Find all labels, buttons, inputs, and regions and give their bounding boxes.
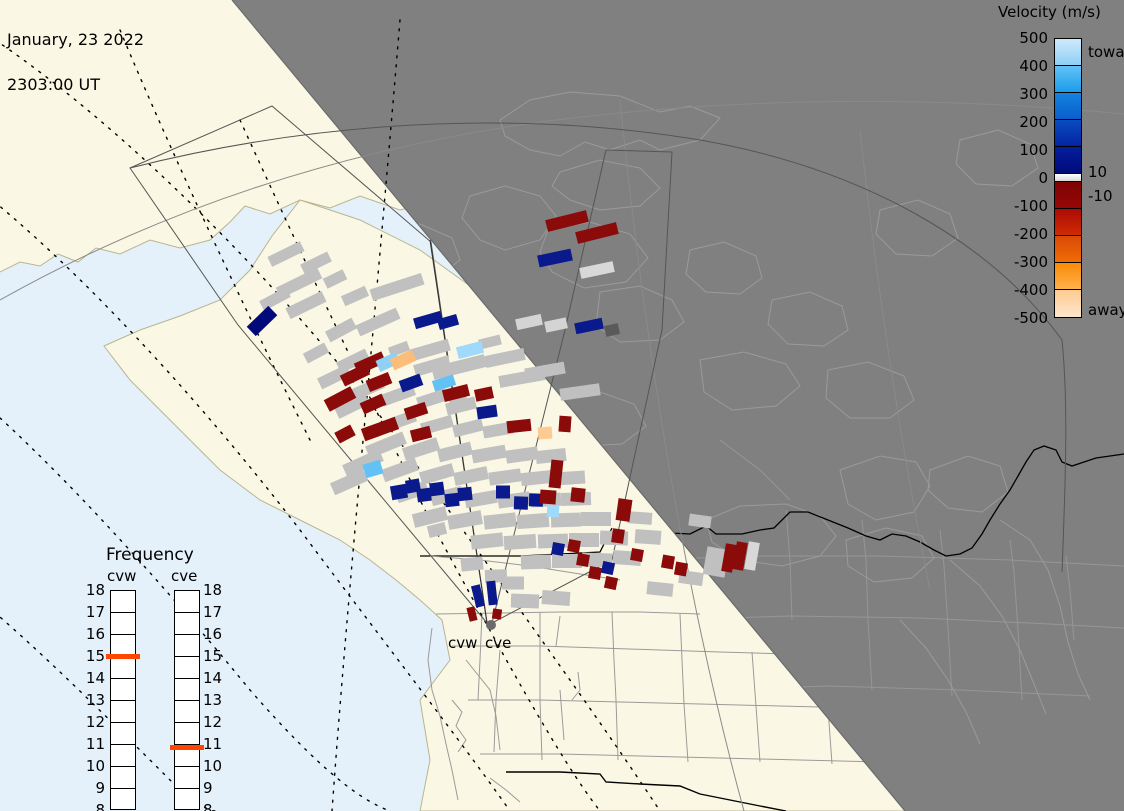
ground-scatter-cell	[521, 554, 551, 569]
ground-scatter-cell	[511, 594, 539, 609]
frequency-column-header-cvw: cvw	[107, 567, 136, 585]
frequency-label-16: 16	[85, 625, 105, 643]
radar-site-marker[interactable]	[486, 620, 496, 630]
frequency-label-11: 11	[85, 735, 105, 753]
frequency-cell	[111, 789, 135, 811]
ground-scatter-cell	[646, 581, 673, 597]
frequency-label-13: 13	[203, 691, 222, 709]
velocity-label-toward: toward	[1088, 43, 1124, 61]
velocity-cell	[416, 488, 432, 503]
velocity-cell	[444, 493, 459, 507]
velocity-cell	[538, 427, 553, 440]
velocity-tick-200: 200	[1019, 113, 1048, 131]
frequency-label-12: 12	[203, 713, 222, 731]
velocity-band-50	[1055, 147, 1081, 174]
frequency-legend-title: Frequency	[106, 545, 194, 565]
frequency-cell	[175, 789, 199, 811]
frequency-label-8: 8	[203, 801, 213, 811]
velocity-band-0	[1055, 174, 1081, 182]
frequency-label-14: 14	[85, 669, 105, 687]
frequency-legend: Frequency cvw cve 1818171716161515141413…	[85, 545, 245, 785]
timestamp-date: January, 23 2022	[7, 32, 144, 47]
frequency-label-17: 17	[85, 603, 105, 621]
velocity-legend: Velocity (m/s) 5004003002001000-100-200-…	[990, 0, 1124, 340]
velocity-cell	[457, 487, 472, 501]
ground-scatter-cell	[504, 534, 537, 550]
velocity-tick--500: -500	[1014, 309, 1048, 327]
velocity-band--150	[1055, 209, 1081, 236]
frequency-label-15: 15	[203, 647, 222, 665]
velocity-cell	[551, 542, 565, 556]
velocity-legend-title: Velocity (m/s)	[998, 3, 1101, 21]
velocity-cell	[492, 608, 502, 619]
ground-scatter-cell	[628, 511, 653, 525]
velocity-cell	[540, 489, 557, 504]
frequency-scale-cve[interactable]	[174, 590, 200, 810]
velocity-tick--300: -300	[1014, 253, 1048, 271]
frequency-cell	[111, 723, 135, 745]
frequency-label-8: 8	[85, 801, 105, 811]
frequency-label-18: 18	[203, 581, 222, 599]
velocity-cell	[429, 482, 445, 497]
velocity-cell	[611, 528, 625, 544]
frequency-label-9: 9	[85, 779, 105, 797]
velocity-cell	[604, 576, 618, 590]
velocity-cell	[674, 562, 688, 577]
velocity-band--350	[1055, 263, 1081, 290]
velocity-tick-100: 100	[1019, 141, 1048, 159]
frequency-label-16: 16	[203, 625, 222, 643]
velocity-cell	[588, 566, 602, 580]
screenshot-root: January, 23 2022 2303:00 UT cvw cve Velo…	[0, 0, 1124, 811]
ground-scatter-cell	[542, 590, 571, 606]
velocity-tick--400: -400	[1014, 281, 1048, 299]
frequency-cell	[175, 635, 199, 657]
velocity-band--250	[1055, 236, 1081, 263]
velocity-label-10: 10	[1088, 163, 1107, 181]
velocity-band-150	[1055, 120, 1081, 147]
velocity-tick-400: 400	[1019, 57, 1048, 75]
velocity-cell	[558, 416, 571, 433]
ground-scatter-cell	[635, 529, 662, 545]
ground-scatter-cell	[517, 513, 550, 529]
frequency-label-13: 13	[85, 691, 105, 709]
ground-scatter-cell	[581, 512, 611, 526]
frequency-cell	[111, 767, 135, 789]
velocity-cell	[570, 487, 585, 502]
velocity-band-350	[1055, 66, 1081, 93]
frequency-label-18: 18	[85, 581, 105, 599]
velocity-colorbar	[1054, 38, 1082, 318]
frequency-label-12: 12	[85, 713, 105, 731]
frequency-cell	[175, 723, 199, 745]
frequency-cell	[111, 745, 135, 767]
frequency-label-17: 17	[203, 603, 222, 621]
frequency-label-10: 10	[85, 757, 105, 775]
frequency-label-9: 9	[203, 779, 213, 797]
velocity-tick-0: 0	[1038, 169, 1048, 187]
frequency-cell	[175, 679, 199, 701]
map-site-label-cve: cve	[485, 634, 511, 652]
velocity-tick-300: 300	[1019, 85, 1048, 103]
frequency-cell	[175, 613, 199, 635]
velocity-band--450	[1055, 290, 1081, 317]
frequency-cell	[111, 591, 135, 613]
timestamp-time: 2303:00 UT	[7, 77, 144, 92]
velocity-label-minus10: -10	[1088, 187, 1113, 205]
frequency-cell	[111, 657, 135, 679]
velocity-cell	[661, 555, 675, 570]
ground-scatter-cell	[502, 577, 524, 590]
velocity-cell	[601, 561, 615, 575]
frequency-cell	[175, 591, 199, 613]
velocity-cell	[567, 539, 581, 553]
frequency-cell	[111, 701, 135, 723]
frequency-label-15: 15	[85, 647, 105, 665]
velocity-band-250	[1055, 93, 1081, 120]
velocity-cell	[576, 553, 590, 567]
velocity-cell	[390, 484, 408, 501]
velocity-tick--200: -200	[1014, 225, 1048, 243]
frequency-cell	[175, 657, 199, 679]
frequency-label-14: 14	[203, 669, 222, 687]
frequency-label-10: 10	[203, 757, 222, 775]
timestamp: January, 23 2022 2303:00 UT	[7, 2, 144, 122]
frequency-label-11: 11	[203, 735, 222, 753]
velocity-band-450	[1055, 39, 1081, 66]
frequency-column-header-cve: cve	[171, 567, 197, 585]
velocity-cell	[514, 496, 528, 509]
frequency-cell	[175, 767, 199, 789]
velocity-band--50	[1055, 182, 1081, 209]
frequency-cell	[175, 701, 199, 723]
frequency-marker-cvw	[106, 654, 140, 659]
velocity-cell	[630, 548, 644, 562]
velocity-label-away: away	[1088, 301, 1124, 319]
ground-scatter-cell	[460, 556, 483, 571]
velocity-cell	[506, 419, 531, 433]
map-site-label-cvw: cvw	[448, 634, 477, 652]
velocity-cell	[547, 505, 560, 518]
frequency-cell	[111, 679, 135, 701]
frequency-cell	[111, 613, 135, 635]
velocity-tick-500: 500	[1019, 29, 1048, 47]
frequency-scale-cvw[interactable]	[110, 590, 136, 810]
frequency-marker-cve	[170, 745, 204, 750]
velocity-tick--100: -100	[1014, 197, 1048, 215]
velocity-cell	[496, 486, 510, 499]
